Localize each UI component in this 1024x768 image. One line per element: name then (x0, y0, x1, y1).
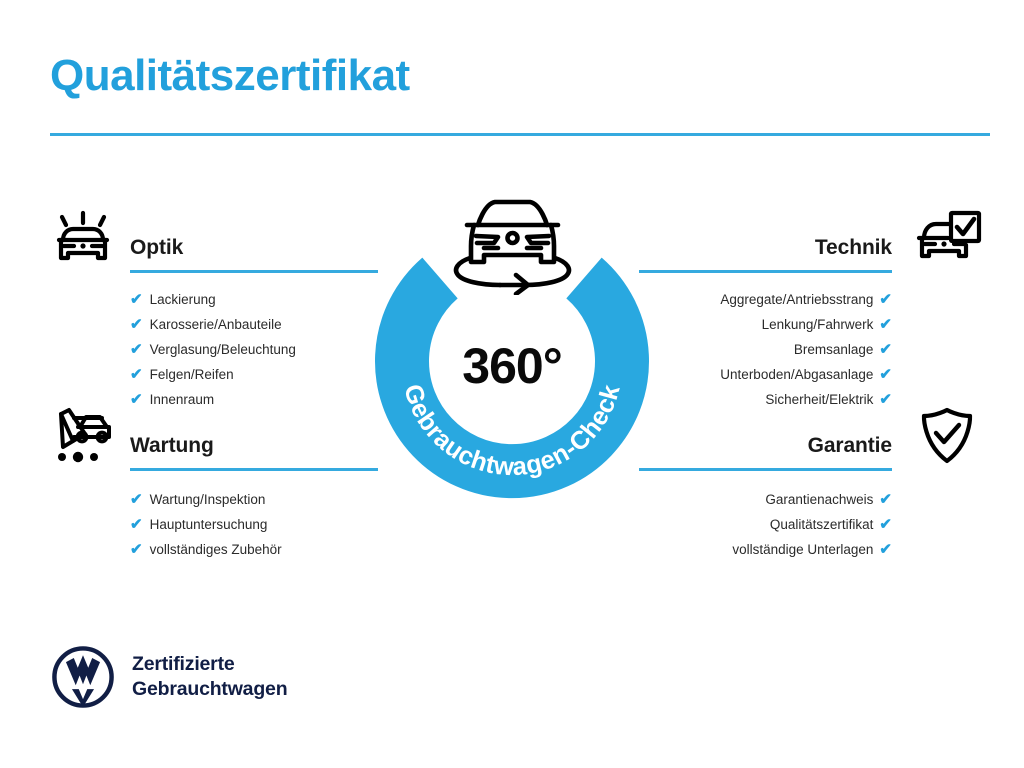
check-icon: ✔ (879, 542, 892, 557)
vw-footer-lockup: Zertifizierte Gebrauchtwagen (52, 646, 287, 708)
list-item: ✔ Verglasung/Beleuchtung (44, 342, 384, 357)
section-header: Garantie (636, 404, 986, 470)
section-title: Garantie (808, 434, 892, 458)
list-item-label: Karosserie/Anbauteile (150, 318, 282, 332)
vw-lockup-line2: Gebrauchtwagen (132, 677, 287, 702)
list-item-label: Wartung/Inspektion (150, 493, 266, 507)
list-item: ✔ vollständiges Zubehör (44, 542, 384, 557)
section-title: Optik (130, 236, 183, 260)
list-item: Unterboden/Abgasanlage ✔ (636, 367, 986, 382)
pencil-car-icon (44, 404, 122, 468)
list-item-label: Garantienachweis (765, 493, 873, 507)
list-item: ✔ Lackierung (44, 292, 384, 307)
list-item: Bremsanlage ✔ (636, 342, 986, 357)
check-list: ✔ Wartung/Inspektion ✔ Hauptuntersuchung… (44, 492, 384, 557)
list-item-label: Unterboden/Abgasanlage (720, 368, 873, 382)
car-checkbox-icon (908, 206, 986, 270)
section-header: Wartung (44, 404, 384, 470)
check-icon: ✔ (130, 317, 143, 332)
check-list: ✔ Lackierung ✔ Karosserie/Anbauteile ✔ V… (44, 292, 384, 407)
list-item: vollständige Unterlagen ✔ (636, 542, 986, 557)
badge-number: 360° (378, 341, 646, 391)
certificate-page: Qualitätszertifikat Optik (0, 0, 1024, 768)
section-optik: Optik ✔ Lackierung ✔ Karosserie/Anbautei… (44, 206, 384, 417)
vw-logo (52, 646, 114, 708)
list-item: Lenkung/Fahrwerk ✔ (636, 317, 986, 332)
list-item: ✔ Wartung/Inspektion (44, 492, 384, 507)
check-icon: ✔ (879, 517, 892, 532)
check-icon: ✔ (879, 367, 892, 382)
list-item-label: Felgen/Reifen (150, 368, 234, 382)
list-item: ✔ Felgen/Reifen (44, 367, 384, 382)
section-technik: Technik Aggregate/Antriebsstrang ✔ Lenku… (636, 206, 986, 417)
check-icon: ✔ (130, 292, 143, 307)
list-item: Qualitätszertifikat ✔ (636, 517, 986, 532)
check-icon: ✔ (130, 542, 143, 557)
list-item-label: Lackierung (150, 293, 216, 307)
section-wartung: Wartung ✔ Wartung/Inspektion ✔ Hauptunte… (44, 404, 384, 567)
list-item-label: Lenkung/Fahrwerk (762, 318, 874, 332)
list-item-label: vollständiges Zubehör (150, 543, 282, 557)
section-underline (639, 270, 892, 273)
section-header: Technik (636, 206, 986, 272)
list-item: Garantienachweis ✔ (636, 492, 986, 507)
check-icon: ✔ (130, 342, 143, 357)
check-icon: ✔ (130, 367, 143, 382)
check-icon: ✔ (879, 492, 892, 507)
check-icon: ✔ (879, 317, 892, 332)
list-item: Aggregate/Antriebsstrang ✔ (636, 292, 986, 307)
section-garantie: Garantie Garantienachweis ✔ Qualitätszer… (636, 404, 986, 567)
section-title: Wartung (130, 434, 214, 458)
list-item: ✔ Hauptuntersuchung (44, 517, 384, 532)
check-list: Aggregate/Antriebsstrang ✔ Lenkung/Fahrw… (636, 292, 986, 407)
section-underline (130, 468, 378, 471)
section-title: Technik (815, 236, 892, 260)
section-underline (639, 468, 892, 471)
360-check-badge: Gebrauchtwagen-Check 360° (378, 245, 646, 485)
shield-check-icon (908, 404, 986, 468)
list-item-label: Verglasung/Beleuchtung (150, 343, 296, 357)
section-underline (130, 270, 378, 273)
vw-lockup-text: Zertifizierte Gebrauchtwagen (132, 652, 287, 702)
list-item-label: vollständige Unterlagen (732, 543, 873, 557)
check-icon: ✔ (130, 492, 143, 507)
check-icon: ✔ (130, 517, 143, 532)
header-divider (50, 133, 990, 136)
check-icon: ✔ (879, 292, 892, 307)
car-rotate-icon (440, 190, 585, 295)
list-item-label: Qualitätszertifikat (770, 518, 874, 532)
list-item: ✔ Karosserie/Anbauteile (44, 317, 384, 332)
check-icon: ✔ (879, 342, 892, 357)
list-item-label: Aggregate/Antriebsstrang (720, 293, 873, 307)
list-item-label: Bremsanlage (794, 343, 874, 357)
check-list: Garantienachweis ✔ Qualitätszertifikat ✔… (636, 492, 986, 557)
page-title: Qualitätszertifikat (50, 52, 410, 100)
vw-lockup-line1: Zertifizierte (132, 652, 287, 677)
section-header: Optik (44, 206, 384, 272)
list-item-label: Hauptuntersuchung (150, 518, 268, 532)
car-shine-icon (44, 206, 122, 270)
